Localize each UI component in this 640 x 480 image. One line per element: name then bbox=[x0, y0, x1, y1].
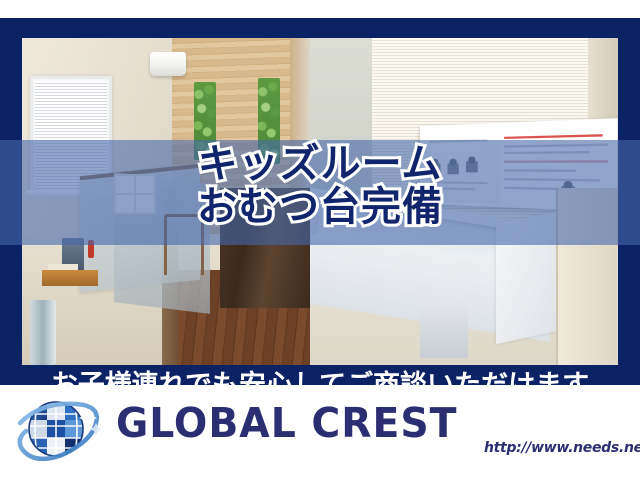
headline-band bbox=[0, 140, 640, 245]
air-conditioner-icon bbox=[150, 52, 186, 76]
website-url[interactable]: http://www.needs.ne.jp/ bbox=[484, 440, 640, 456]
tagline: お子様連れでも安心してご商談いただけます bbox=[0, 363, 640, 385]
brand-name: GLOBAL CREST bbox=[116, 399, 457, 447]
tagline-text: お子様連れでも安心してご商談いただけます bbox=[51, 370, 589, 385]
globe-icon bbox=[14, 393, 106, 465]
floor-rack bbox=[30, 300, 56, 365]
promo-banner: キッズルーム おむつ台完備 お子様連れでも安心してご商談いただけます bbox=[0, 18, 640, 385]
changing-table-leg bbox=[420, 308, 468, 358]
toy-box bbox=[42, 270, 98, 286]
brand-footer: GLOBAL CREST bbox=[0, 385, 640, 480]
panel-heading-line bbox=[504, 134, 603, 139]
